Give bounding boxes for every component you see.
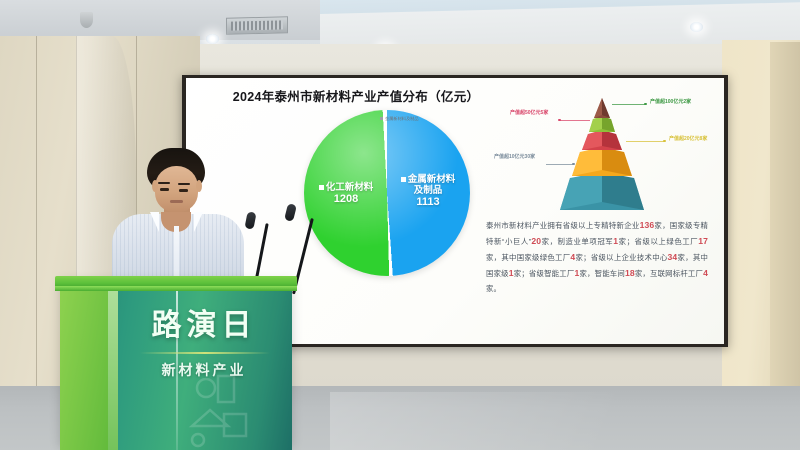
paragraph-text: 家，制造业单项冠军 bbox=[541, 237, 613, 246]
downlight-icon bbox=[206, 34, 219, 44]
pie-slice-name-metal-2: 及制品 bbox=[388, 185, 468, 196]
pyramid-chart: 产值超100亿元2家 产值超50亿元5家 产值超20亿元8家 产值超10亿元30… bbox=[486, 92, 718, 210]
paragraph-figure: 20 bbox=[531, 236, 541, 246]
paragraph-text: 家，其中国家级绿色工厂 bbox=[486, 253, 570, 262]
paragraph-figure: 17 bbox=[698, 236, 708, 246]
pie-slice-label-chemical: 化工新材料 1208 bbox=[306, 182, 386, 206]
pyramid-leader-100 bbox=[612, 104, 646, 105]
pyramid-label-over-50: 产值超50亿元5家 bbox=[510, 111, 548, 116]
paragraph-text: 家。 bbox=[486, 284, 501, 293]
pyramid-leader-50 bbox=[560, 120, 590, 121]
air-vent-icon bbox=[226, 16, 288, 35]
conference-room-scene: 2024年泰州市新材料产业产值分布（亿元） 金属新材料及制品 化工新材料 120… bbox=[0, 0, 800, 450]
pie-slice-name-metal-1: 金属新材料 bbox=[408, 174, 456, 185]
slide-title: 2024年泰州市新材料产业产值分布（亿元） bbox=[206, 86, 506, 105]
podium-brand-divider bbox=[140, 352, 270, 354]
podium-brand-subtitle: 新材料产业 bbox=[116, 360, 292, 380]
floor-light-reflection bbox=[330, 392, 800, 450]
paragraph-figure: 18 bbox=[625, 268, 635, 278]
speaker-brow-left bbox=[158, 182, 170, 184]
speaker-brow-right bbox=[178, 183, 190, 185]
podium-decorative-pattern bbox=[184, 370, 256, 450]
paragraph-text: 家，互联网标杆工厂 bbox=[635, 269, 703, 278]
slide-paragraph: 泰州市新材料产业拥有省级以上专精特新企业136家，国家级专精特新“小巨人”20家… bbox=[486, 218, 708, 295]
pie-slice-name-chemical: 化工新材料 bbox=[326, 182, 374, 193]
right-wall-corner bbox=[770, 42, 800, 388]
pie-chart-micro-legend: 金属新材料及制品 bbox=[380, 116, 424, 123]
pyramid-leader-20 bbox=[626, 141, 664, 142]
speaker-eye-right bbox=[179, 189, 188, 192]
speaker-eye-left bbox=[160, 188, 169, 191]
paragraph-text: 家；省级以上企业技术中心 bbox=[575, 253, 667, 262]
downlight-icon bbox=[690, 22, 703, 32]
pie-slice-label-metal: 金属新材料 及制品 1113 bbox=[388, 174, 468, 209]
speaker-collar-right bbox=[194, 212, 203, 232]
pyramid-label-over-20: 产值超20亿元8家 bbox=[669, 137, 707, 142]
pie-slice-value-metal: 1113 bbox=[388, 196, 468, 209]
paragraph-figure: 34 bbox=[668, 252, 678, 262]
ceiling-speaker-icon bbox=[80, 12, 93, 28]
speaker-mouth bbox=[170, 200, 183, 203]
pyramid-dot-10 bbox=[572, 163, 575, 166]
pyramid-dot-100 bbox=[644, 103, 647, 106]
pyramid-dot-50 bbox=[558, 119, 561, 122]
speaker-ear-right bbox=[196, 180, 202, 192]
paragraph-figure: 136 bbox=[640, 220, 655, 230]
micro-legend-label-1: 金属新材料及制品 bbox=[385, 116, 419, 121]
paragraph-text: 家，智能车间 bbox=[579, 269, 625, 278]
pyramid-label-over-100: 产值超100亿元2家 bbox=[650, 100, 691, 105]
pyramid-leader-10 bbox=[546, 164, 574, 165]
pie-chart: 金属新材料及制品 化工新材料 1208 金属新材料 及制品 1113 bbox=[304, 110, 470, 276]
podium-brand-title: 路演日 bbox=[116, 300, 292, 344]
pyramid-dot-20 bbox=[663, 140, 666, 143]
paragraph-text: 泰州市新材料产业拥有省级以上专精特新企业 bbox=[486, 221, 640, 230]
speaker-collar-left bbox=[150, 212, 159, 232]
paragraph-text: 家；省级以上绿色工厂 bbox=[618, 237, 698, 246]
paragraph-figure: 4 bbox=[703, 268, 708, 278]
podium-top-lip bbox=[55, 286, 297, 291]
pyramid-label-over-10: 产值超10亿元30家 bbox=[494, 155, 535, 160]
podium-left-face bbox=[60, 286, 108, 450]
paragraph-text: 家；省级智能工厂 bbox=[514, 269, 575, 278]
pie-slice-value-chemical: 1208 bbox=[306, 193, 386, 206]
